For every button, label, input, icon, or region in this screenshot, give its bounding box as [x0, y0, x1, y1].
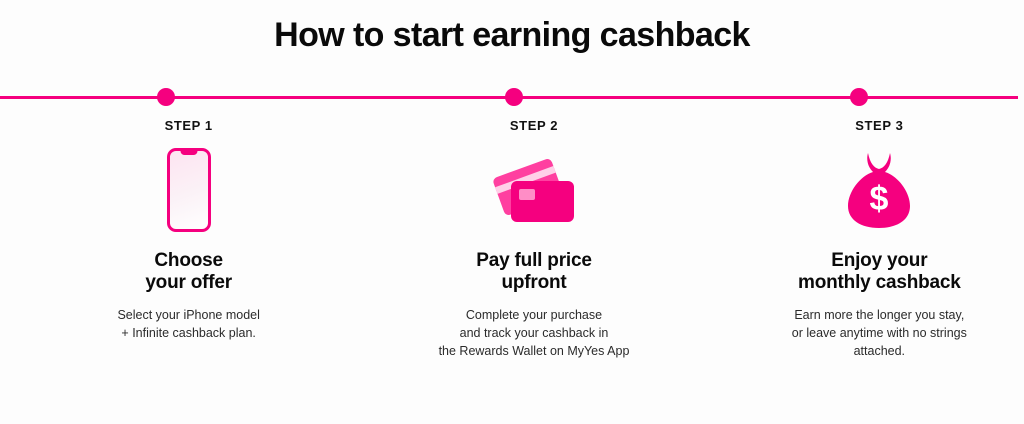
- step-label-3: STEP 3: [855, 118, 903, 133]
- step-heading-2: Pay full price upfront: [476, 250, 591, 294]
- step-label-2: STEP 2: [510, 118, 558, 133]
- timeline-marker-step-3: [850, 88, 868, 106]
- step-heading-3-line-2: monthly cashback: [798, 272, 961, 294]
- step-body-3: Earn more the longer you stay, or leave …: [792, 306, 967, 360]
- steps-container: STEP 1 Choose your offer Select your iPh…: [0, 118, 1024, 360]
- cashback-steps-page: How to start earning cashback STEP 1 Cho…: [0, 0, 1024, 424]
- step-heading-1: Choose your offer: [145, 250, 232, 294]
- step-icon-1: [167, 142, 211, 238]
- step-heading-1-line-2: your offer: [145, 272, 232, 294]
- step-body-2-line-1: Complete your purchase: [439, 306, 630, 324]
- step-body-2-line-3: the Rewards Wallet on MyYes App: [439, 342, 630, 360]
- timeline-marker-step-2: [505, 88, 523, 106]
- step-label-1: STEP 1: [165, 118, 213, 133]
- step-heading-3: Enjoy your monthly cashback: [798, 250, 961, 294]
- step-icon-2: [491, 142, 577, 238]
- step-body-3-line-2: or leave anytime with no strings: [792, 324, 967, 342]
- step-body-2-line-2: and track your cashback in: [439, 324, 630, 342]
- step-heading-1-line-1: Choose: [145, 250, 232, 272]
- credit-card-front: [511, 181, 574, 222]
- step-column-3: STEP 3 $ Enjoy your monthly cashback Ear…: [709, 118, 1024, 360]
- credit-cards-icon: [491, 157, 577, 223]
- step-body-1: Select your iPhone model + Infinite cash…: [117, 306, 259, 342]
- step-body-3-line-3: attached.: [792, 342, 967, 360]
- step-body-1-line-1: Select your iPhone model: [117, 306, 259, 324]
- step-body-3-line-1: Earn more the longer you stay,: [792, 306, 967, 324]
- step-body-1-line-2: + Infinite cashback plan.: [117, 324, 259, 342]
- iphone-icon: [167, 148, 211, 232]
- step-heading-3-line-1: Enjoy your: [798, 250, 961, 272]
- step-heading-2-line-2: upfront: [476, 272, 591, 294]
- step-body-2: Complete your purchase and track your ca…: [439, 306, 630, 360]
- step-heading-2-line-1: Pay full price: [476, 250, 591, 272]
- step-icon-3: $: [840, 142, 918, 238]
- svg-text:$: $: [870, 180, 889, 218]
- page-title: How to start earning cashback: [0, 12, 1024, 58]
- step-column-1: STEP 1 Choose your offer Select your iPh…: [18, 118, 359, 360]
- timeline-marker-step-1: [157, 88, 175, 106]
- money-bag-icon: $: [840, 150, 918, 230]
- step-column-2: STEP 2 Pay full price upfront Complete y…: [363, 118, 704, 360]
